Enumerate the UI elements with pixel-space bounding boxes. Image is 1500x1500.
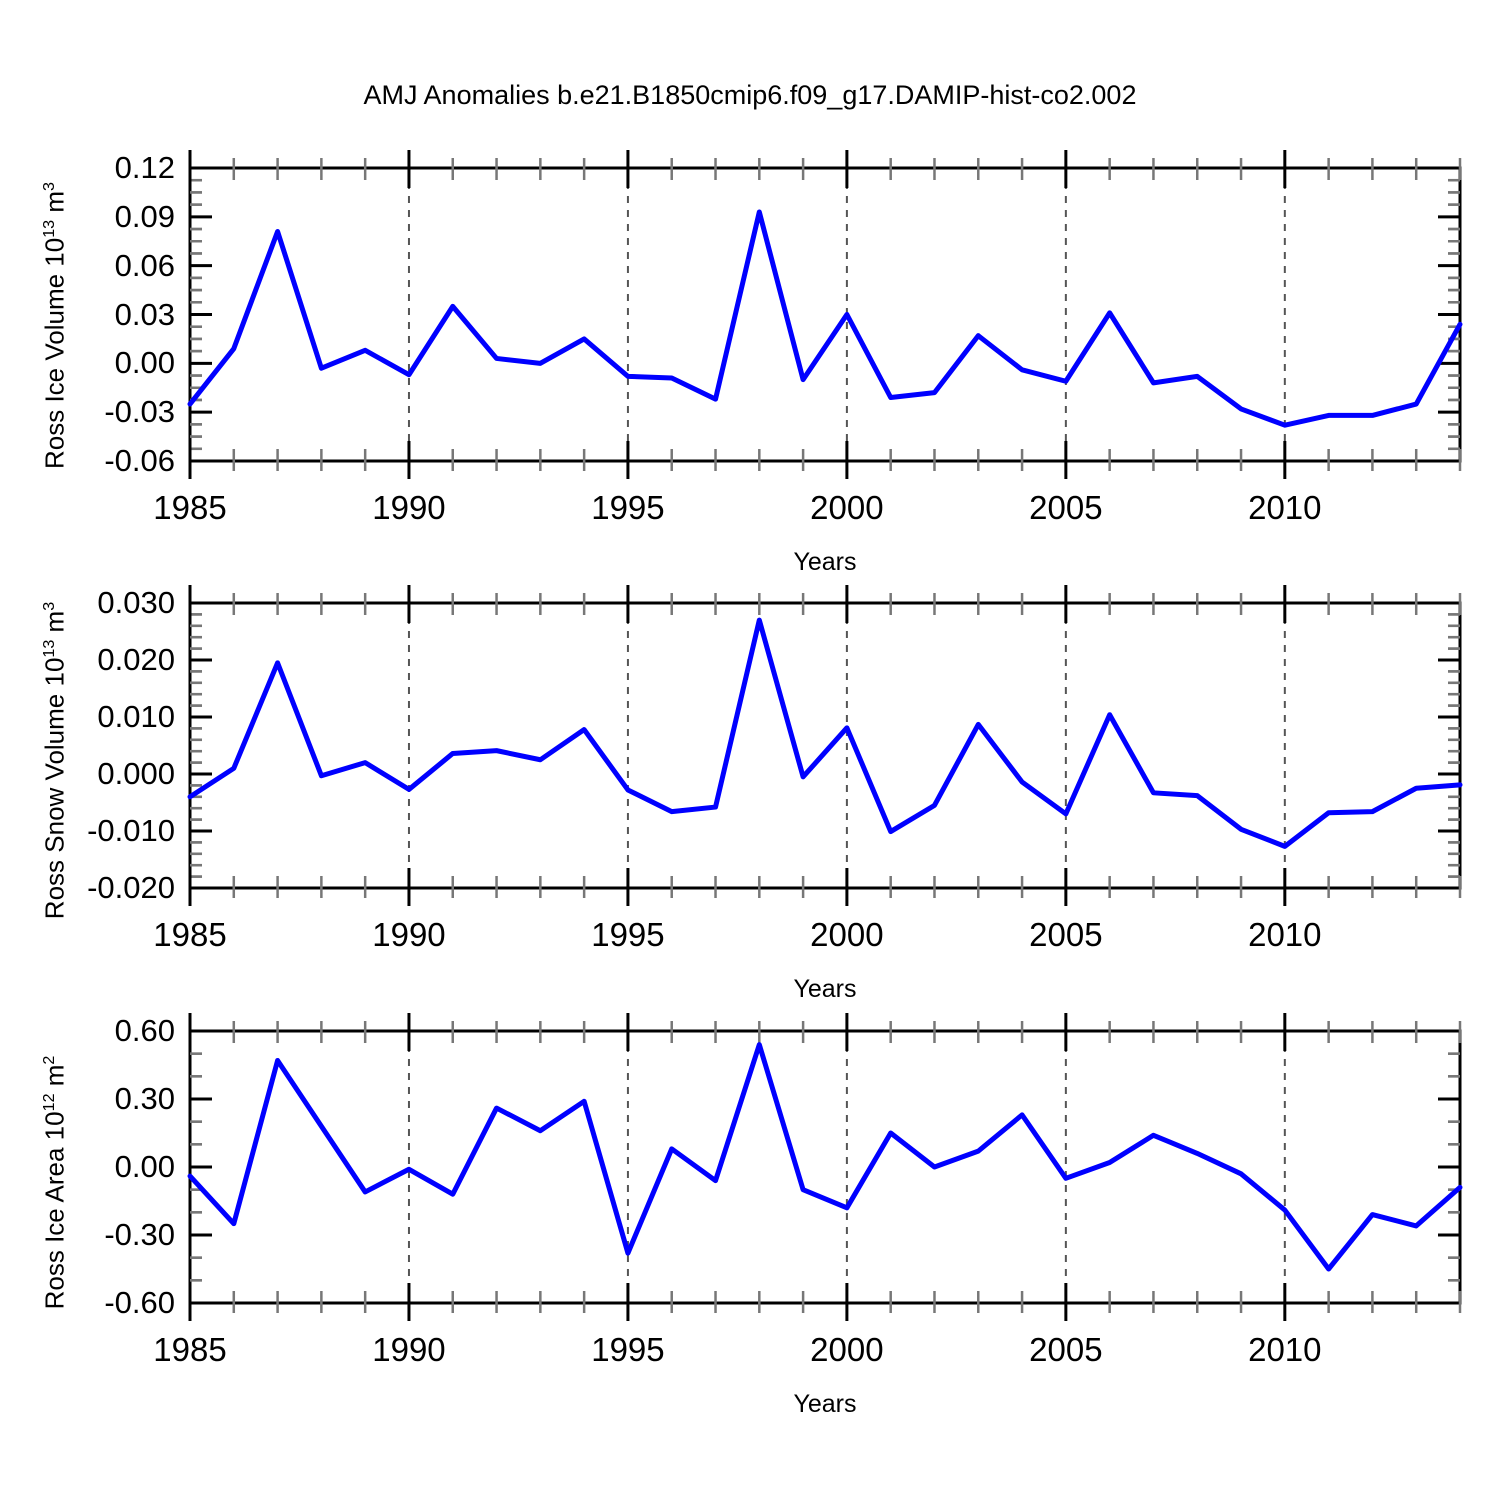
- panel2-y-tick-label: 0.010: [35, 699, 175, 735]
- panel2-y-tick-label: -0.010: [35, 813, 175, 849]
- panel2-y-tick-label: 0.020: [35, 642, 175, 678]
- panel2-x-tick-label: 2000: [810, 916, 883, 954]
- panel1-y-tick-label: -0.06: [35, 443, 175, 479]
- panel3-frame: [190, 1031, 1460, 1303]
- panel3-ylabel-unit-exponent: 2: [40, 1056, 58, 1065]
- panel2-plot-area: [190, 603, 1460, 888]
- panel3-y-tick-label: -0.60: [35, 1285, 175, 1321]
- panel2-x-tick-label: 1990: [372, 916, 445, 954]
- panel1-x-tick-label: 2000: [810, 489, 883, 527]
- panel3-y-tick-label: 0.00: [35, 1149, 175, 1185]
- panel1-x-tick-label: 1990: [372, 489, 445, 527]
- panel1-x-axis-label: Years: [725, 548, 925, 577]
- panel2-y-tick-label: -0.020: [35, 870, 175, 906]
- panel2-x-tick-label: 2010: [1248, 916, 1321, 954]
- chart-page: AMJ Anomalies b.e21.B1850cmip6.f09_g17.D…: [0, 0, 1500, 1500]
- panel1-y-tick-label: 0.06: [35, 248, 175, 284]
- panel2-x-tick-label: 1995: [591, 916, 664, 954]
- panel1-y-tick-label: 0.03: [35, 297, 175, 333]
- panel3-svg: [190, 1031, 1460, 1303]
- panel3-ylabel-base: Ross Ice Area 10: [40, 1111, 70, 1309]
- panel2-y-tick-label: 0.000: [35, 756, 175, 792]
- data-series-line: [190, 212, 1460, 425]
- panel1-x-tick-label: 2005: [1029, 489, 1102, 527]
- panel2-x-tick-label: 1985: [153, 916, 226, 954]
- panel2-svg: [190, 603, 1460, 888]
- panel1-plot-area: [190, 168, 1460, 461]
- panel3-x-tick-label: 1995: [591, 1331, 664, 1369]
- panel3-x-tick-label: 1990: [372, 1331, 445, 1369]
- data-series-line: [190, 1045, 1460, 1269]
- panel3-y-tick-label: -0.30: [35, 1217, 175, 1253]
- panel3-y-tick-label: 0.30: [35, 1081, 175, 1117]
- panel1-y-tick-label: 0.12: [35, 150, 175, 186]
- panel3-plot-area: [190, 1031, 1460, 1303]
- panel2-x-tick-label: 2005: [1029, 916, 1102, 954]
- panel1-x-tick-label: 1985: [153, 489, 226, 527]
- panel2-x-axis-label: Years: [725, 975, 925, 1004]
- panel2-frame: [190, 603, 1460, 888]
- panel3-x-tick-label: 2005: [1029, 1331, 1102, 1369]
- panel1-x-tick-label: 2010: [1248, 489, 1321, 527]
- panel-ross-ice-volume: Ross Ice Volume 1013 m3 Years: [0, 0, 1500, 560]
- panel3-x-tick-label: 1985: [153, 1331, 226, 1369]
- panel3-x-axis-label: Years: [725, 1390, 925, 1419]
- panel1-y-tick-label: 0.00: [35, 345, 175, 381]
- panel1-y-tick-label: 0.09: [35, 199, 175, 235]
- panel3-x-tick-label: 2000: [810, 1331, 883, 1369]
- panel1-y-tick-label: -0.03: [35, 394, 175, 430]
- panel1-x-tick-label: 1995: [591, 489, 664, 527]
- data-series-line: [190, 620, 1460, 846]
- panel3-y-tick-label: 0.60: [35, 1013, 175, 1049]
- panel3-x-tick-label: 2010: [1248, 1331, 1321, 1369]
- panel1-svg: [190, 168, 1460, 461]
- panel2-y-tick-label: 0.030: [35, 585, 175, 621]
